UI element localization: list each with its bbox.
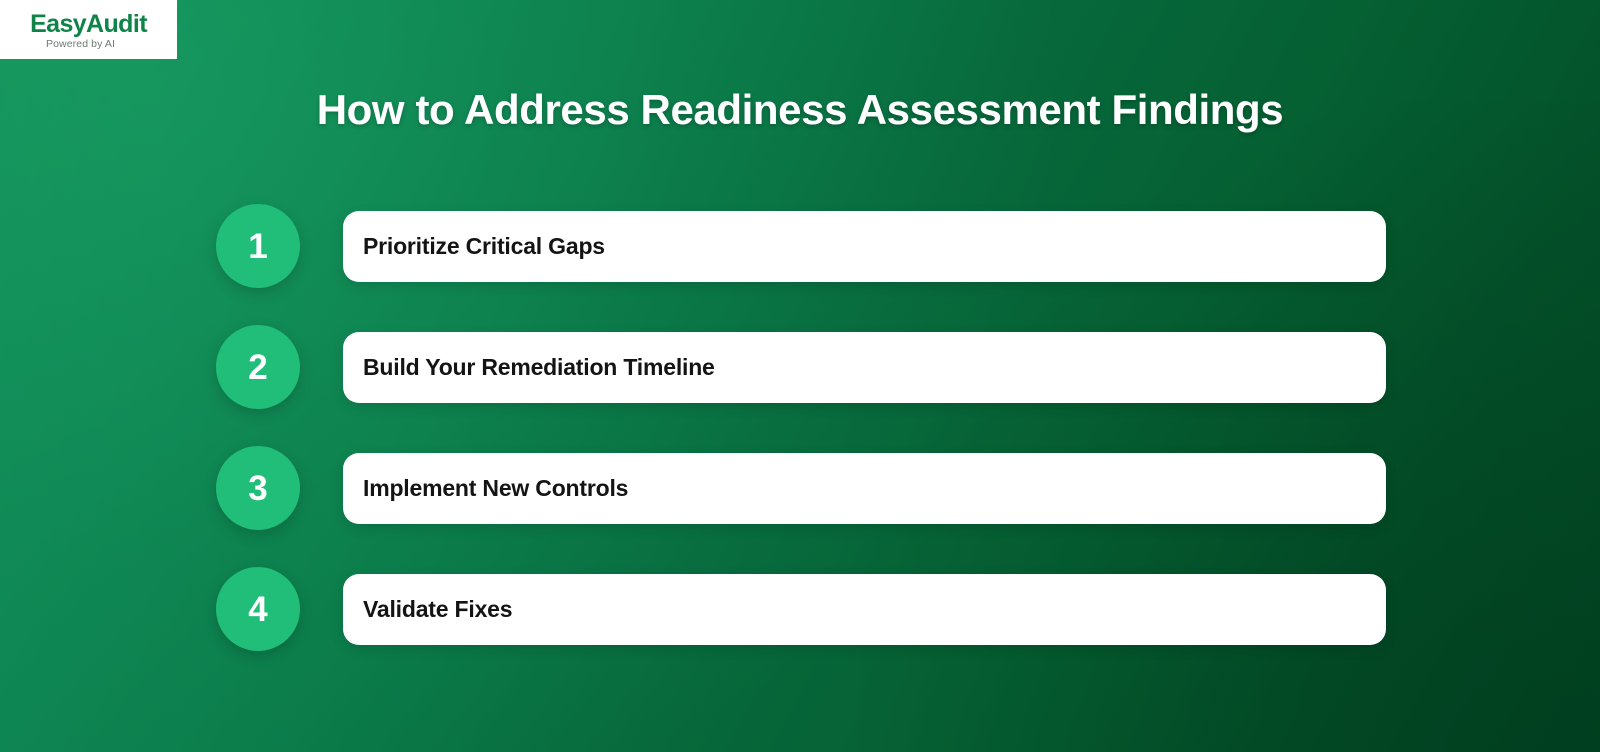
steps-list: 1 Prioritize Critical Gaps 2 Build Your … (216, 204, 1386, 651)
step-number-badge: 3 (216, 446, 300, 530)
page-title: How to Address Readiness Assessment Find… (0, 86, 1600, 134)
step-label: Validate Fixes (363, 596, 512, 623)
step-label: Prioritize Critical Gaps (363, 233, 605, 260)
step-label: Implement New Controls (363, 475, 628, 502)
step-card: Validate Fixes (343, 574, 1386, 645)
step-card: Build Your Remediation Timeline (343, 332, 1386, 403)
step-number-badge: 4 (216, 567, 300, 651)
step-number-badge: 1 (216, 204, 300, 288)
step-label: Build Your Remediation Timeline (363, 354, 715, 381)
brand-logo-badge: EasyAudit Powered by AI (0, 0, 177, 59)
step-card: Implement New Controls (343, 453, 1386, 524)
list-item: 2 Build Your Remediation Timeline (216, 325, 1386, 409)
list-item: 1 Prioritize Critical Gaps (216, 204, 1386, 288)
step-card: Prioritize Critical Gaps (343, 211, 1386, 282)
brand-name: EasyAudit (30, 12, 147, 37)
brand-tagline: Powered by AI (28, 39, 115, 50)
list-item: 4 Validate Fixes (216, 567, 1386, 651)
step-number-badge: 2 (216, 325, 300, 409)
list-item: 3 Implement New Controls (216, 446, 1386, 530)
infographic-canvas: EasyAudit Powered by AI How to Address R… (0, 0, 1600, 752)
